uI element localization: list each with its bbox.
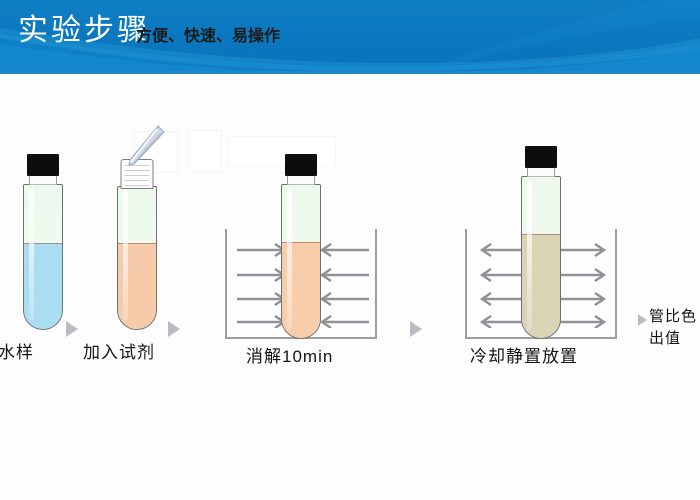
vial-cap-icon (27, 154, 59, 176)
step-separator-icon-3 (410, 321, 422, 337)
tube-glass-body (23, 184, 63, 330)
test-tube-add-reagent (100, 74, 174, 334)
vial-cap-icon (525, 146, 557, 168)
background-ghost-box-2 (188, 130, 222, 172)
liquid-surface-line (118, 243, 156, 244)
step-digest: 消解10min (222, 74, 382, 394)
page-header-banner: 实验步骤 方便、快速、易操作 (0, 0, 700, 74)
liquid-surface-line (282, 242, 320, 243)
step-add-reagent: 加入试剂 (90, 74, 190, 394)
process-diagram: 水样 加入试剂 (0, 74, 700, 500)
final-result-line-2: 出值 (649, 328, 697, 350)
step-cool-rest: 冷却静置放置 (462, 74, 624, 394)
step-separator-icon-4 (638, 314, 647, 326)
tube-liquid-cooled (522, 234, 560, 338)
liquid-surface-line (24, 243, 62, 244)
step-label-water-sample: 水样 (0, 342, 34, 363)
tube-glass-body (281, 184, 321, 339)
banner-title-group: 实验步骤 方便、快速、易操作 (18, 16, 280, 46)
pipette-icon (124, 124, 166, 170)
vial-cap-icon (285, 154, 317, 176)
tube-liquid-reagent (118, 243, 156, 329)
step-separator-icon-1 (66, 321, 78, 337)
vial-neck (29, 176, 57, 185)
tube-glass-body (521, 176, 561, 339)
step-label-digest: 消解10min (246, 346, 333, 367)
final-result-text: 管比色 出值 (649, 306, 697, 350)
page-subtitle: 方便、快速、易操作 (136, 29, 280, 45)
step-label-cool-rest: 冷却静置放置 (470, 346, 578, 367)
page-title: 实验步骤 (18, 16, 150, 46)
test-tube-water-sample (6, 74, 80, 334)
tube-glass-body (117, 186, 157, 330)
step-separator-icon-2 (168, 321, 180, 337)
step-water-sample: 水样 (0, 74, 96, 394)
step-label-add-reagent: 加入试剂 (83, 342, 155, 363)
vial-neck (287, 176, 315, 185)
liquid-surface-line (522, 234, 560, 235)
tube-liquid-water (24, 243, 62, 329)
final-result-line-1: 管比色 (649, 306, 697, 328)
vial-neck (527, 168, 555, 177)
tube-liquid-digest (282, 242, 320, 338)
